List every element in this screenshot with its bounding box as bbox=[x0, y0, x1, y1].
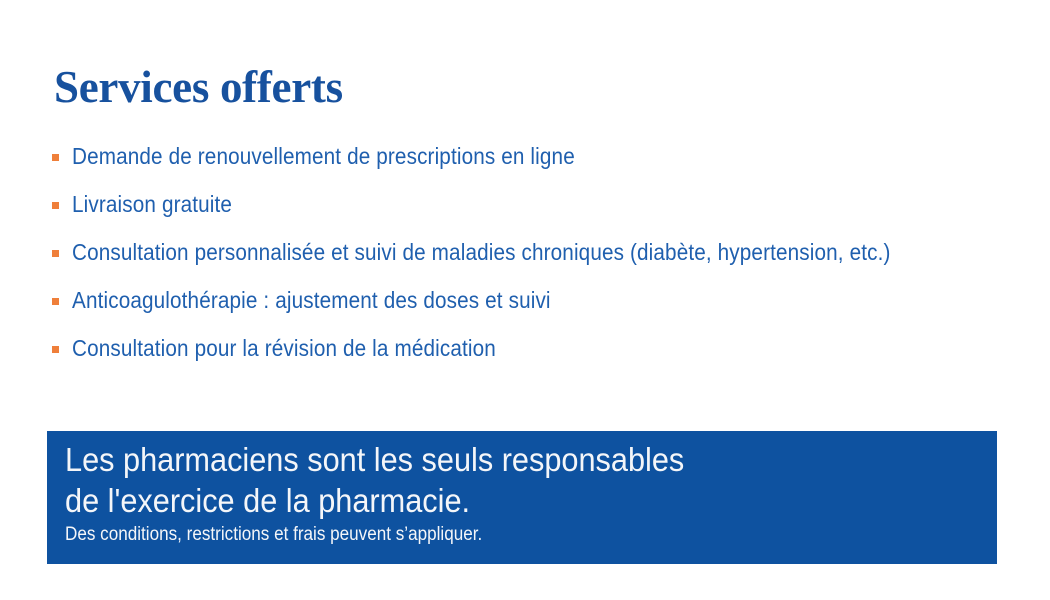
disclaimer-callout-box: Les pharmaciens sont les seuls responsab… bbox=[47, 431, 997, 564]
square-bullet-icon bbox=[52, 250, 59, 257]
list-item-label: Consultation personnalisée et suivi de m… bbox=[72, 239, 936, 266]
list-item: Livraison gratuite bbox=[52, 191, 1032, 239]
list-item-label: Anticoagulothérapie : ajustement des dos… bbox=[72, 287, 936, 314]
square-bullet-icon bbox=[52, 202, 59, 209]
list-item-label: Demande de renouvellement de prescriptio… bbox=[72, 143, 936, 170]
list-item-label: Consultation pour la révision de la médi… bbox=[72, 335, 936, 362]
callout-subtext: Des conditions, restrictions et frais pe… bbox=[65, 523, 888, 547]
callout-heading-line-1: Les pharmaciens sont les seuls responsab… bbox=[65, 439, 915, 480]
list-item: Consultation pour la révision de la médi… bbox=[52, 335, 1032, 383]
page-title: Services offerts bbox=[54, 62, 343, 112]
square-bullet-icon bbox=[52, 346, 59, 353]
list-item: Consultation personnalisée et suivi de m… bbox=[52, 239, 1032, 287]
square-bullet-icon bbox=[52, 298, 59, 305]
slide-canvas: Services offerts Demande de renouvelleme… bbox=[0, 0, 1050, 600]
list-item: Anticoagulothérapie : ajustement des dos… bbox=[52, 287, 1032, 335]
services-bullet-list: Demande de renouvellement de prescriptio… bbox=[52, 143, 1032, 383]
list-item-label: Livraison gratuite bbox=[72, 191, 936, 218]
square-bullet-icon bbox=[52, 154, 59, 161]
callout-heading-line-2: de l'exercice de la pharmacie. bbox=[65, 480, 915, 521]
list-item: Demande de renouvellement de prescriptio… bbox=[52, 143, 1032, 191]
